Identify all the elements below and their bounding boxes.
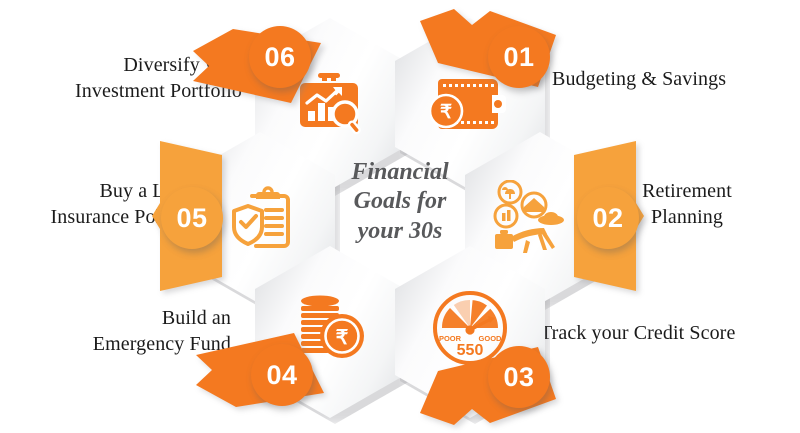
- svg-text:₹: ₹: [440, 102, 452, 123]
- item-badge-02[interactable]: 02: [577, 187, 639, 249]
- item-badge-04[interactable]: 04: [251, 344, 313, 406]
- page-title: Financial Goals for your 30s: [318, 158, 482, 246]
- hex-cell-03[interactable]: POOR GOOD 550 03: [395, 246, 545, 418]
- item-badge-06[interactable]: 06: [249, 26, 311, 88]
- infographic-canvas: Diversify your Investment Portfolio Buy …: [0, 0, 800, 400]
- hex-cell-04[interactable]: ₹ 04: [255, 246, 405, 418]
- item-badge-03[interactable]: 03: [488, 346, 550, 408]
- item-label-01: Budgeting & Savings: [552, 66, 792, 92]
- item-label-03: Track your Credit Score: [540, 320, 790, 346]
- svg-text:₹: ₹: [336, 327, 349, 349]
- item-badge-01[interactable]: 01: [488, 26, 550, 88]
- item-badge-05[interactable]: 05: [161, 187, 223, 249]
